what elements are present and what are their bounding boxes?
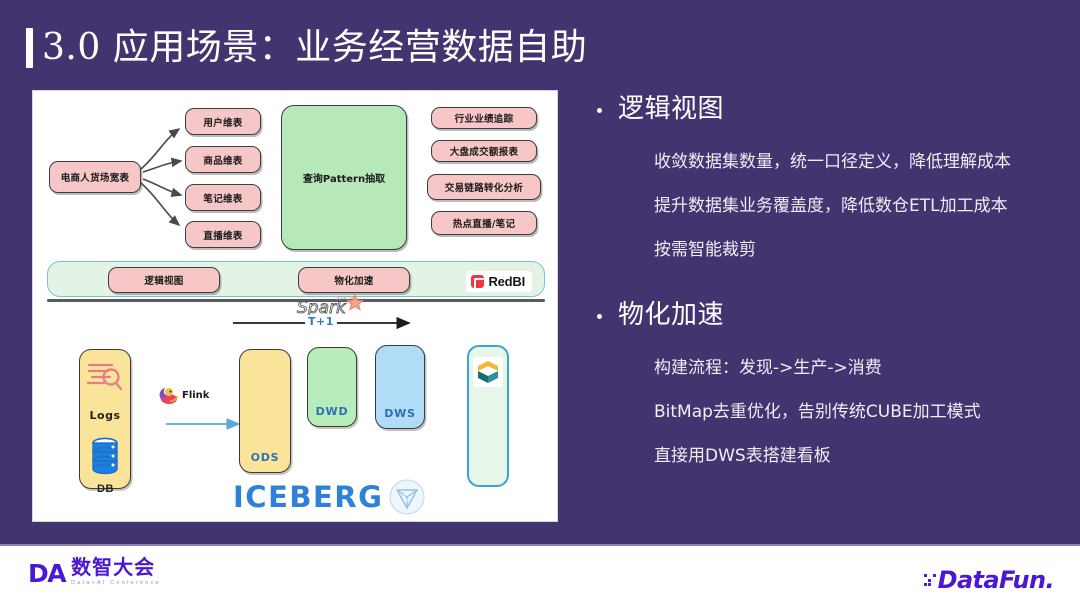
pipeline-layer-ods: ODS [239,349,291,473]
page-title: 3.0 应用场景：业务经营数据自助 [26,26,587,70]
section-heading-materialized-accel: 物化加速 [618,298,724,332]
capability-materialized-accel: 物化加速 [298,267,410,293]
architecture-diagram-card: 电商人货场宽表 用户维表 商品维表 笔记维表 直播维表 查询Pattern抽取 … [32,90,558,522]
logical-view-line-2: 提升数据集业务覆盖度，降低数仓ETL加工成本 [654,184,1067,228]
datafun-logo-text: DataFun. [938,566,1054,594]
scenario-gmv-report: 大盘成交额报表 [431,140,537,162]
conference-logo-mark: DA [28,559,65,588]
capability-logical-view: 逻辑视图 [108,267,220,293]
datafun-logo: DataFun. [924,566,1054,594]
pipeline-arrow-label: T+1 [305,315,337,328]
logs-label: Logs [90,409,121,422]
materialized-accel-line-2: BitMap去重优化，告别传统CUBE加工模式 [654,390,1067,434]
redbi-logo: RedBI [466,271,532,292]
scenario-industry-performance: 行业业绩追踪 [431,107,537,129]
db-label: DB [97,483,114,495]
conference-logo-cn: 数智大会 [71,558,161,579]
flink-squirrel-icon [157,385,179,405]
source-box: Logs [79,349,131,489]
section-logical-view: 逻辑视图 [597,92,1067,126]
query-pattern-box: 查询Pattern抽取 [281,105,407,250]
materialized-accel-line-1: 构建流程：发现->生产->消费 [654,346,1067,390]
materialized-accel-line-3: 直接用DWS表搭建看板 [654,434,1067,478]
conference-logo: DA 数智大会 Data+AI Conference [28,558,161,588]
dim-table-product: 商品维表 [185,146,261,173]
scenario-hot-live-note: 热点直播/笔记 [431,211,537,235]
iceberg-mark-icon [389,479,425,515]
title-text: 3.0 应用场景：业务经营数据自助 [42,26,587,70]
conference-logo-name: 数智大会 Data+AI Conference [71,558,161,588]
title-accent-bar [26,28,33,68]
content-column: 逻辑视图 收敛数据集数量，统一口径定义，降低理解成本 提升数据集业务覆盖度，降低… [597,92,1067,478]
logical-view-line-3: 按需智能裁剪 [654,228,1067,272]
source-wide-table: 电商人货场宽表 [49,161,141,193]
capability-band: 逻辑视图 物化加速 RedBI [47,261,545,297]
pipeline-layer-dwd: DWD [307,347,357,427]
slide-root: 3.0 应用场景：业务经营数据自助 [0,0,1080,607]
iceberg-logo: ICEBERG [233,479,425,515]
redbi-logo-text: RedBI [488,274,525,289]
flink-logo: Flink [157,385,209,405]
logical-view-line-1: 收敛数据集数量，统一口径定义，降低理解成本 [654,140,1067,184]
scenario-funnel-analysis: 交易链路转化分析 [427,174,541,200]
iceberg-logo-text: ICEBERG [233,480,383,514]
pipeline-layer-dws: DWS [375,345,425,429]
dim-table-note: 笔记维表 [185,184,261,211]
datafun-dots-icon [924,574,936,586]
redbi-mark-icon [471,275,484,288]
section-materialized-accel: 物化加速 [597,298,1067,332]
logs-icon [86,360,124,394]
section-heading-logical-view: 逻辑视图 [618,92,724,126]
database-icon [87,436,123,478]
starrocks-icon [473,357,503,387]
slide-footer [0,546,1080,607]
pipeline-olap-engine [467,345,509,487]
bullet-dot-icon [597,108,602,113]
flink-label: Flink [182,390,209,401]
dim-table-user: 用户维表 [185,108,261,135]
dim-table-live: 直播维表 [185,221,261,248]
conference-logo-en: Data+AI Conference [71,579,161,588]
bullet-dot-icon [597,314,602,319]
